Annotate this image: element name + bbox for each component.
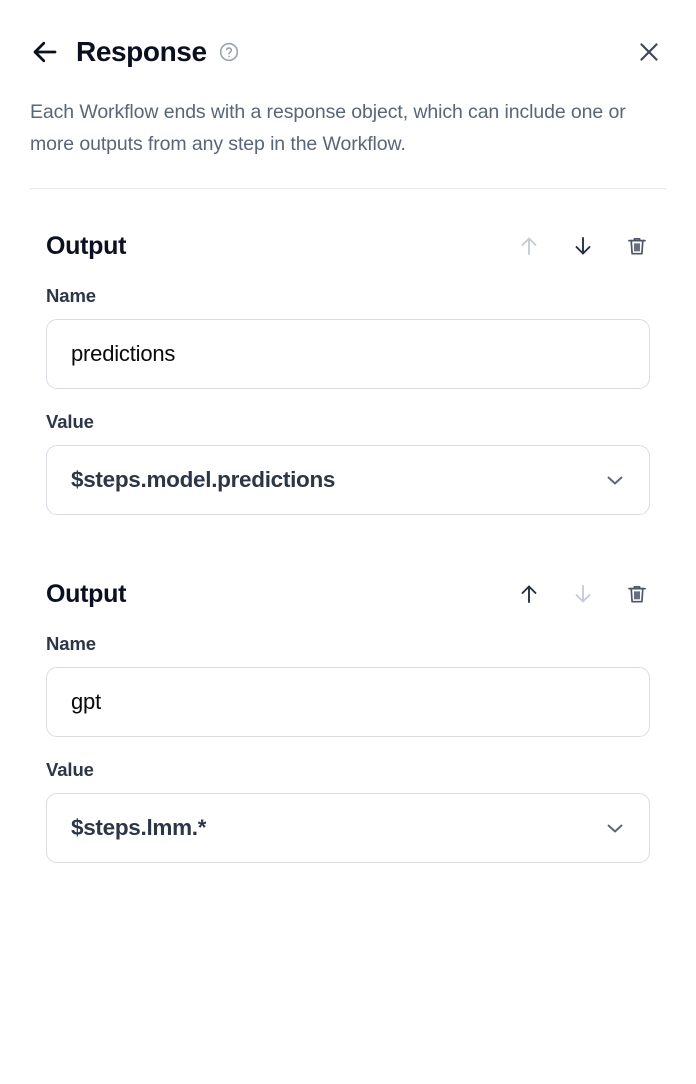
output-item: Output [30,515,666,863]
name-input[interactable] [46,319,650,389]
value-label: Value [46,411,650,433]
arrow-up-icon [517,234,541,258]
page-title: Response [76,36,207,68]
chevron-down-icon [603,468,627,492]
arrow-down-icon [571,582,595,606]
arrow-up-icon [517,582,541,606]
panel-description: Each Workflow ends with a response objec… [30,96,660,160]
chevron-down-icon [603,816,627,840]
panel-header: Response Each Workflow ends with a respo… [0,0,696,189]
move-up-button[interactable] [516,233,542,259]
value-select-text: $steps.lmm.* [71,815,206,841]
value-field-group: Value $steps.model.predictions [30,411,666,515]
output-header: Output [30,577,666,611]
value-select[interactable]: $steps.lmm.* [46,793,650,863]
close-icon [636,39,662,65]
trash-icon [625,582,649,606]
header-top-row: Response [30,30,666,74]
arrow-down-icon [571,234,595,258]
move-up-button[interactable] [516,581,542,607]
output-actions [516,233,650,259]
output-title: Output [46,232,126,261]
response-panel: Response Each Workflow ends with a respo… [0,0,696,1084]
move-down-button[interactable] [570,581,596,607]
delete-output-button[interactable] [624,581,650,607]
name-label: Name [46,285,650,307]
output-title: Output [46,580,126,609]
delete-output-button[interactable] [624,233,650,259]
output-header: Output [30,229,666,263]
trash-icon [625,234,649,258]
value-select[interactable]: $steps.model.predictions [46,445,650,515]
back-button[interactable] [28,35,62,69]
output-actions [516,581,650,607]
help-circle-icon[interactable] [219,42,239,62]
outputs-list: Output [0,189,696,1084]
name-label: Name [46,633,650,655]
value-select-text: $steps.model.predictions [71,467,335,493]
name-input[interactable] [46,667,650,737]
value-field-group: Value $steps.lmm.* [30,759,666,863]
arrow-left-icon [30,37,60,67]
move-down-button[interactable] [570,233,596,259]
value-label: Value [46,759,650,781]
help-circle-glyph [219,42,239,62]
output-item: Output [30,189,666,515]
name-field-group: Name [30,285,666,389]
close-button[interactable] [634,37,664,67]
name-field-group: Name [30,633,666,737]
